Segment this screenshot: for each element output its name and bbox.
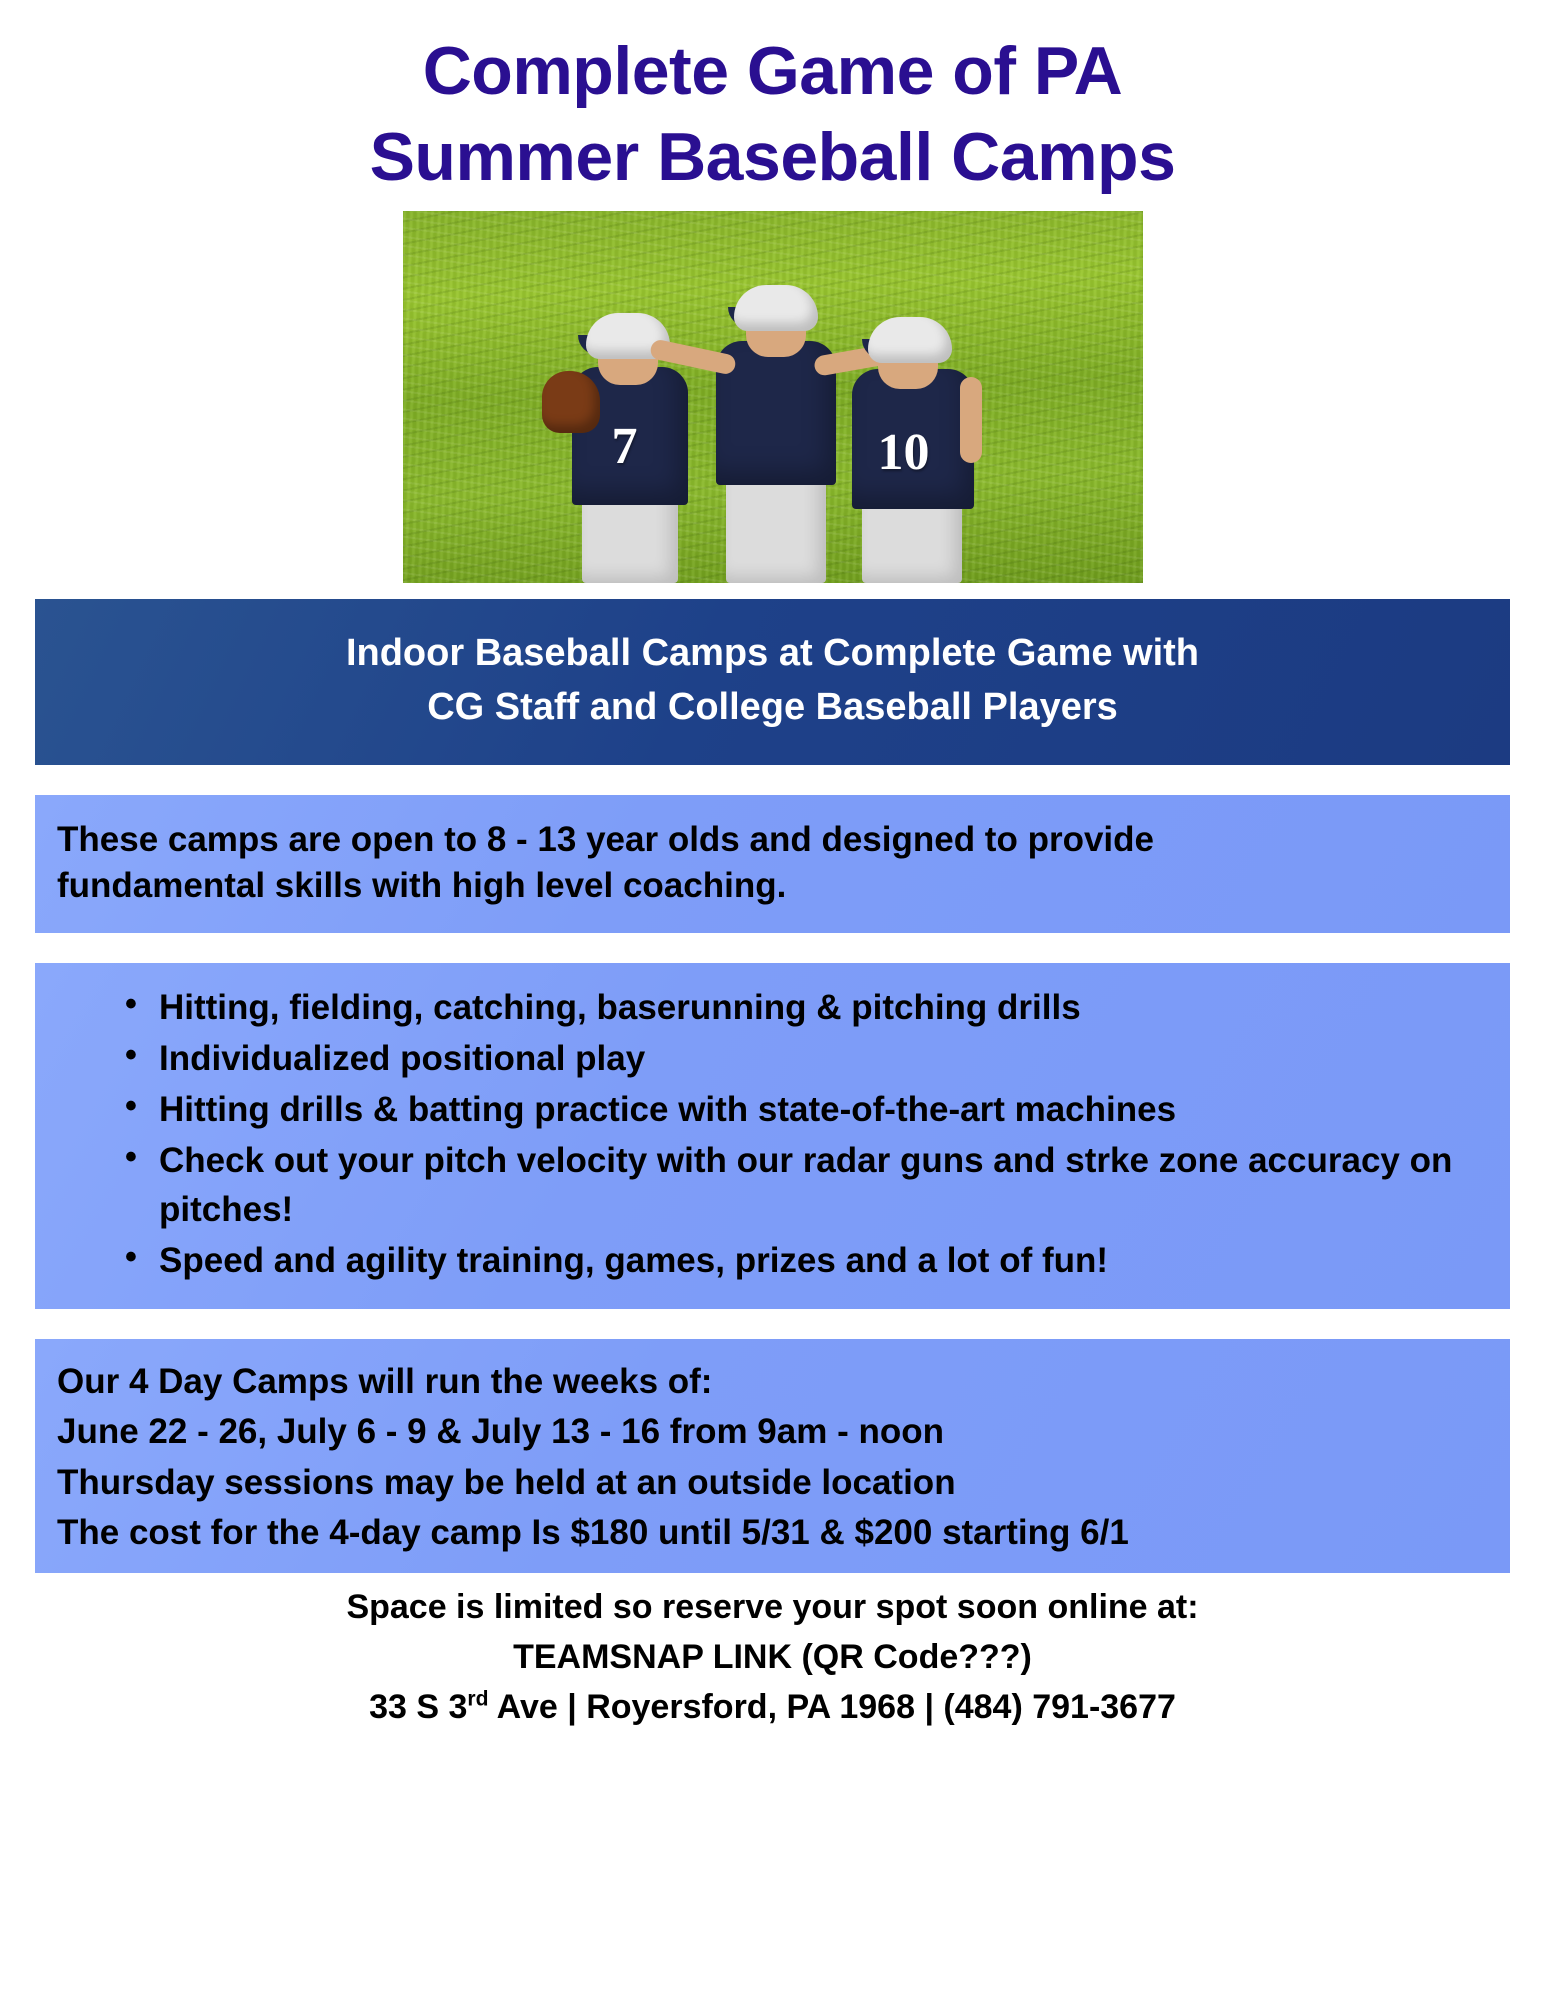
players-group: 7 <box>538 243 1008 583</box>
footer-registration-link[interactable]: TEAMSNAP LINK (QR Code???) <box>20 1633 1525 1683</box>
title-line-2: Summer Baseball Camps <box>0 114 1545 200</box>
intro-box: These camps are open to 8 - 13 year olds… <box>35 795 1510 933</box>
list-item: Hitting drills & batting practice with s… <box>125 1085 1490 1134</box>
list-item: Speed and agility training, games, prize… <box>125 1236 1490 1285</box>
address-ordinal-suffix: rd <box>467 1687 488 1710</box>
features-box: Hitting, fielding, catching, baserunning… <box>35 963 1510 1309</box>
list-item: Check out your pitch velocity with our r… <box>125 1136 1490 1234</box>
features-list: Hitting, fielding, catching, baserunning… <box>55 983 1490 1285</box>
schedule-box: Our 4 Day Camps will run the weeks of: J… <box>35 1339 1510 1573</box>
list-item: Hitting, fielding, catching, baserunning… <box>125 983 1490 1032</box>
schedule-line-2: June 22 - 26, July 6 - 9 & July 13 - 16 … <box>57 1407 1488 1457</box>
player-left-number: 7 <box>612 421 638 473</box>
player-right: 10 <box>828 265 1003 583</box>
schedule-line-1: Our 4 Day Camps will run the weeks of: <box>57 1357 1488 1407</box>
title-line-1: Complete Game of PA <box>0 28 1545 114</box>
player-right-arm <box>960 377 982 463</box>
flyer-page: Complete Game of PA Summer Baseball Camp… <box>0 0 1545 1999</box>
player-right-number: 10 <box>878 427 930 479</box>
footer: Space is limited so reserve your spot so… <box>0 1573 1545 1733</box>
footer-address: 33 S 3rd Ave | Royersford, PA 1968 | (48… <box>20 1683 1525 1733</box>
list-item: Individualized positional play <box>125 1034 1490 1083</box>
banner-line-2: CG Staff and College Baseball Players <box>55 681 1490 735</box>
banner-line-1: Indoor Baseball Camps at Complete Game w… <box>55 627 1490 681</box>
player-middle-pants <box>726 471 826 583</box>
player-middle-cap <box>734 285 818 331</box>
player-right-cap <box>868 317 952 363</box>
schedule-line-4: The cost for the 4-day camp Is $180 unti… <box>57 1508 1488 1558</box>
footer-reserve-text: Space is limited so reserve your spot so… <box>20 1583 1525 1633</box>
intro-line-1: These camps are open to 8 - 13 year olds… <box>57 817 1488 863</box>
hero-photo-wrap: 7 <box>0 211 1545 583</box>
baseball-glove <box>542 371 600 433</box>
schedule-line-3: Thursday sessions may be held at an outs… <box>57 1458 1488 1508</box>
intro-line-2: fundamental skills with high level coach… <box>57 863 1488 909</box>
subtitle-banner: Indoor Baseball Camps at Complete Game w… <box>35 599 1510 765</box>
address-prefix: 33 S 3 <box>369 1688 467 1726</box>
hero-photo: 7 <box>403 211 1143 583</box>
page-title: Complete Game of PA Summer Baseball Camp… <box>0 0 1545 201</box>
address-suffix: Ave | Royersford, PA 1968 | (484) 791-36… <box>489 1688 1176 1726</box>
